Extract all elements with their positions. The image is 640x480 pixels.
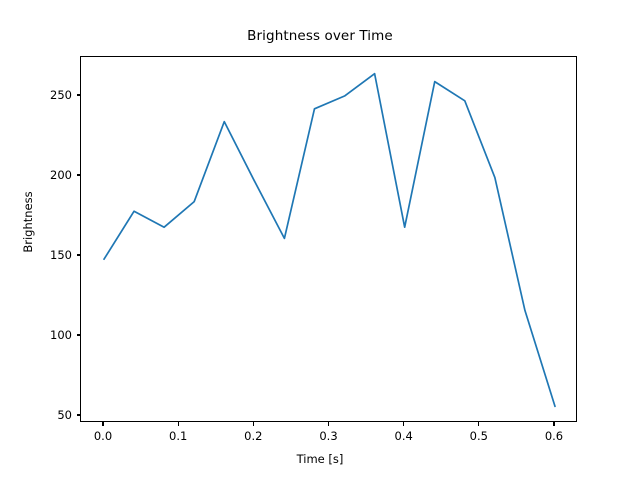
brightness-line	[104, 74, 555, 407]
plot-area	[80, 56, 577, 422]
figure-canvas: Brightness over Time Brightness 50100150…	[0, 0, 640, 480]
x-tick-label: 0.1	[169, 429, 187, 443]
line-series-svg	[81, 57, 578, 423]
x-tick-label: 0.3	[319, 429, 337, 443]
y-tick-label: 50	[24, 408, 72, 422]
x-axis-label: Time [s]	[0, 452, 640, 466]
chart-title: Brightness over Time	[0, 28, 640, 44]
y-tick-label: 250	[24, 88, 72, 102]
x-tick-label: 0.6	[545, 429, 563, 443]
y-tick-label: 100	[24, 328, 72, 342]
y-tick-label: 150	[24, 248, 72, 262]
y-tick-label: 200	[24, 168, 72, 182]
x-tick-label: 0.2	[244, 429, 262, 443]
x-tick-label: 0.4	[395, 429, 413, 443]
x-tick-label: 0.5	[470, 429, 488, 443]
x-tick-label: 0.0	[94, 429, 112, 443]
